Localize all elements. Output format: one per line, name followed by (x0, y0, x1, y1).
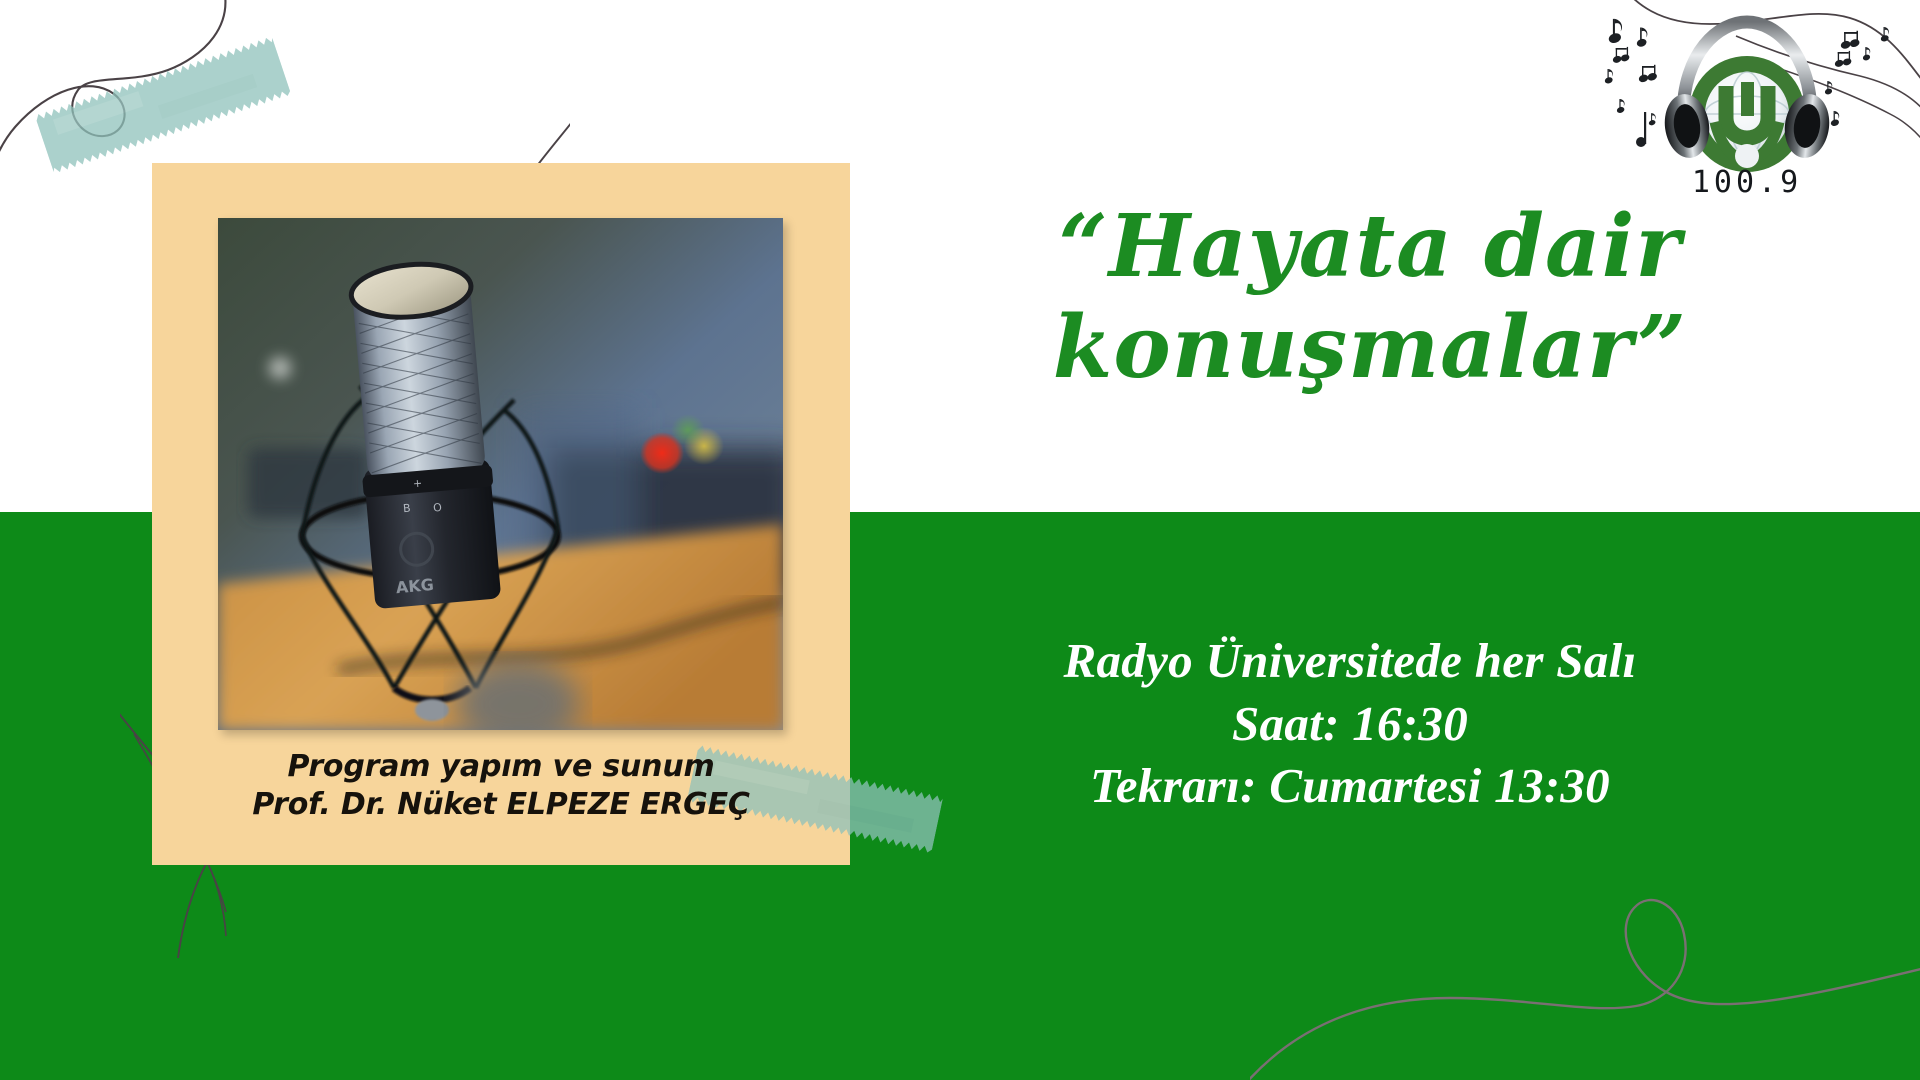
music-note-icon (1604, 19, 1658, 147)
headphones-icon (1661, 22, 1833, 172)
schedule-repeat: Tekrarı: Cumartesi 13:30 (850, 755, 1850, 818)
svg-text:+: + (412, 477, 422, 491)
schedule-block: Radyo Üniversitede her Salı Saat: 16:30 … (850, 630, 1850, 818)
page-title: “Hayata dair konuşmalar” (975, 196, 1765, 399)
photo-caption-line-1: Program yapım ve sunum (152, 748, 850, 786)
radyo-universite-logo: 100.9 (1595, 4, 1905, 204)
schedule-day: Radyo Üniversitede her Salı (850, 630, 1850, 693)
svg-text:O: O (433, 501, 443, 515)
logo-frequency: 100.9 (1692, 165, 1802, 200)
svg-text:B: B (403, 502, 412, 516)
svg-text:AKG: AKG (395, 575, 434, 597)
studio-microphone-photo: B O + AKG (218, 218, 783, 730)
poster-canvas: B O + AKG (0, 0, 1920, 1080)
photo-caption: Program yapım ve sunum Prof. Dr. Nüket E… (152, 748, 850, 824)
schedule-time: Saat: 16:30 (850, 693, 1850, 756)
photo-caption-line-2: Prof. Dr. Nüket ELPEZE ERGEÇ (152, 786, 850, 824)
